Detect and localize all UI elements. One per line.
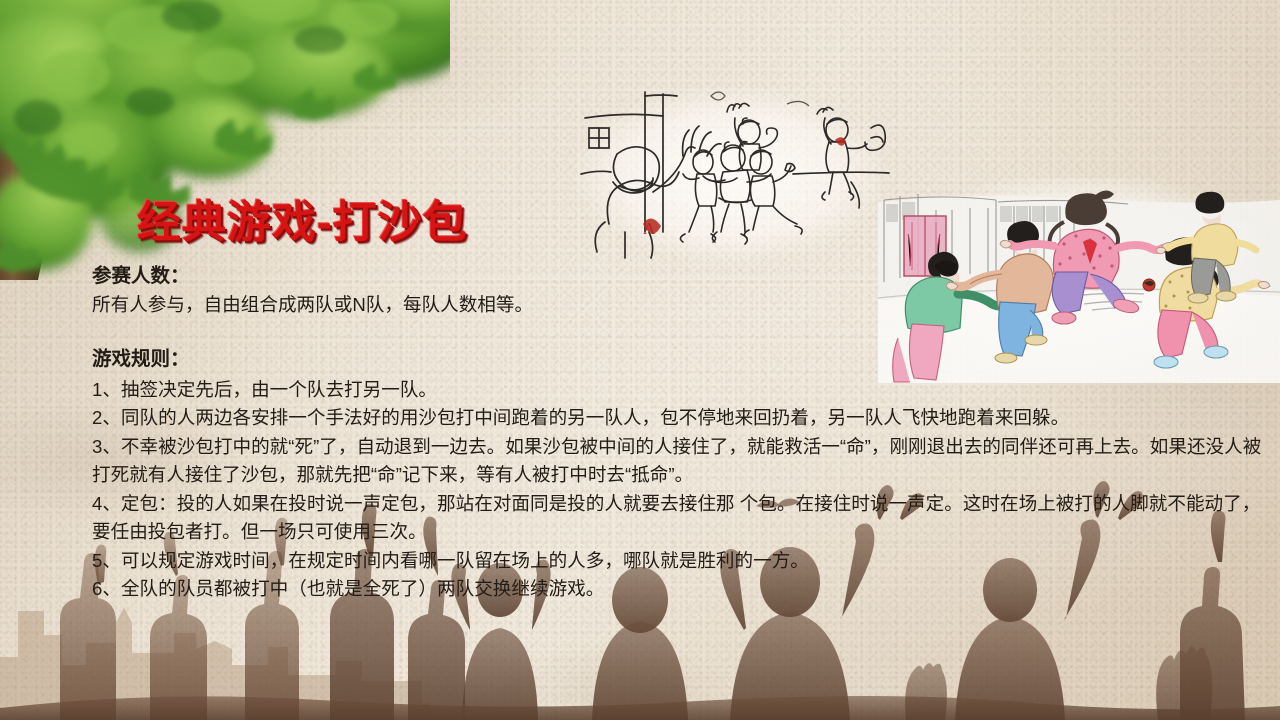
list-item: 6、全队的队员都被打中（也就是全死了）两队交换继续游戏。 [92,575,1267,604]
list-item: 1、抽签决定先后，由一个队去打另一队。 [92,376,1267,405]
rules-heading: 游戏规则： [92,345,1267,374]
list-item: 3、不幸被沙包打中的就“死”了，自动退到一边去。如果沙包被中间的人接住了，就能救… [92,433,1267,490]
slide-canvas: A [0,0,1280,720]
slide-body: 参赛人数： 所有人参与，自由组合成两队或N队，每队人数相等。 游戏规则： 1、抽… [92,262,1267,604]
spacer [92,319,1267,345]
svg-text:A: A [643,219,656,238]
players-heading: 参赛人数： [92,262,1267,291]
page-title: 经典游戏-打沙包 [137,186,468,250]
rules-list: 1、抽签决定先后，由一个队去打另一队。 2、同队的人两边各安排一个手法好的用沙包… [92,376,1267,604]
list-item: 2、同队的人两边各安排一个手法好的用沙包打中间跑着的另一队人，包不停地来回扔着，… [92,404,1267,433]
children-dodgeball-sketch-illustration: A [565,82,895,267]
list-item: 4、定包：投的人如果在投时说一声定包，那站在对面同是投的人就要去接住那 个包。在… [92,490,1267,547]
players-text: 所有人参与，自由组合成两队或N队，每队人数相等。 [92,291,1267,320]
list-item: 5、可以规定游戏时间，在规定时间内看哪一队留在场上的人多，哪队就是胜利的一方。 [92,547,1267,576]
